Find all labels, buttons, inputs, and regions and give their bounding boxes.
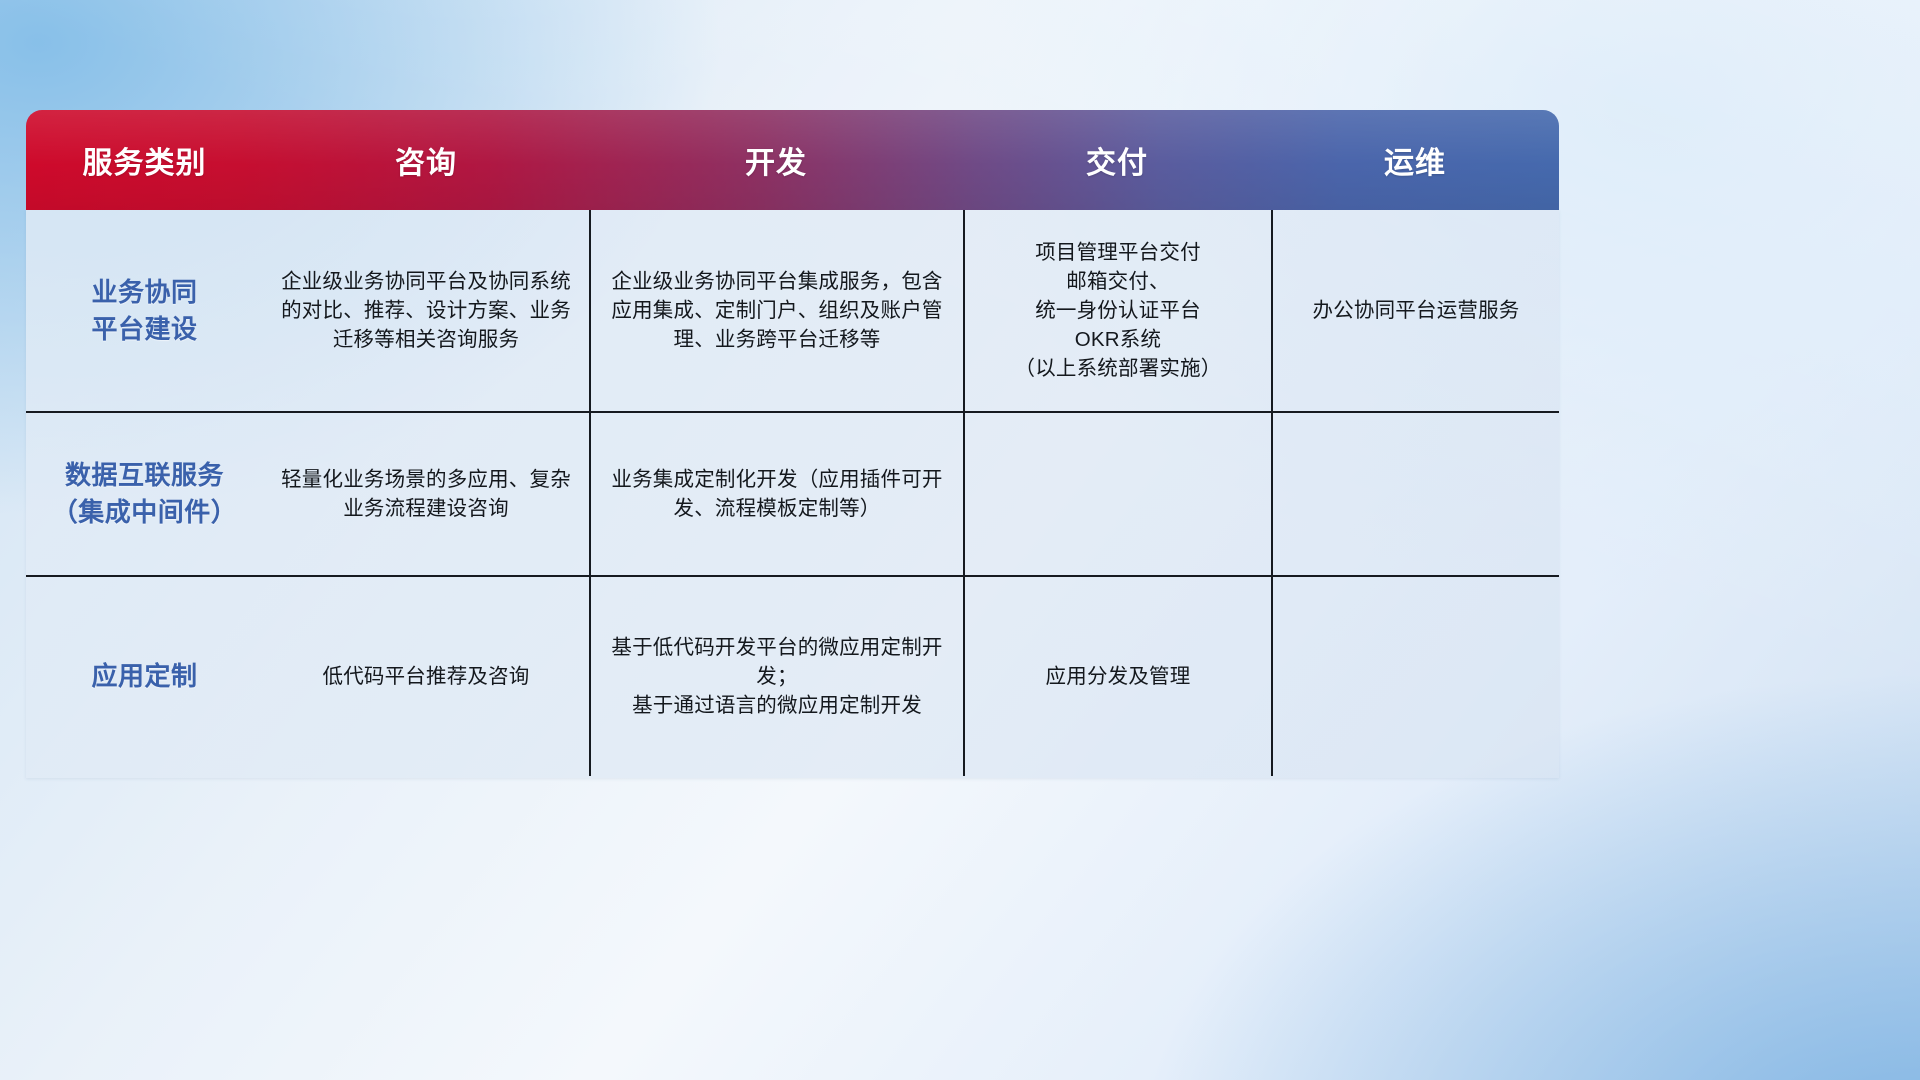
cell-delivery: 项目管理平台交付 邮箱交付、 统一身份认证平台 OKR系统 （以上系统部署实施） [963,210,1271,411]
cell-operations [1271,577,1559,776]
cell-delivery: 应用分发及管理 [963,577,1271,776]
header-cell-consulting: 咨询 [263,138,589,182]
table-header-row: 服务类别 咨询 开发 交付 运维 [26,110,1559,210]
table-body: 业务协同 平台建设 企业级业务协同平台及协同系统的对比、推荐、设计方案、业务迁移… [26,210,1559,778]
row-label-data-integration: 数据互联服务 （集成中间件） [26,413,263,575]
header-cell-delivery: 交付 [963,138,1271,182]
cell-development: 基于低代码开发平台的微应用定制开发； 基于通过语言的微应用定制开发 [589,577,963,776]
table-row: 应用定制 低代码平台推荐及咨询 基于低代码开发平台的微应用定制开发； 基于通过语… [26,577,1559,776]
cell-operations: 办公协同平台运营服务 [1271,210,1559,411]
table-row: 业务协同 平台建设 企业级业务协同平台及协同系统的对比、推荐、设计方案、业务迁移… [26,210,1559,411]
header-cell-operations: 运维 [1271,138,1559,182]
row-label-business-collaboration: 业务协同 平台建设 [26,210,263,411]
cell-development: 企业级业务协同平台集成服务，包含应用集成、定制门户、组织及账户管理、业务跨平台迁… [589,210,963,411]
cell-delivery [963,413,1271,575]
row-label-app-customization: 应用定制 [26,577,263,776]
header-cell-development: 开发 [589,138,963,182]
cell-development: 业务集成定制化开发（应用插件可开发、流程模板定制等） [589,413,963,575]
cell-consulting: 企业级业务协同平台及协同系统的对比、推荐、设计方案、业务迁移等相关咨询服务 [263,210,589,411]
cell-consulting: 轻量化业务场景的多应用、复杂业务流程建设咨询 [263,413,589,575]
header-cell-service-category: 服务类别 [26,138,263,182]
service-matrix-table: 服务类别 咨询 开发 交付 运维 业务协同 平台建设 企业级业务协同平台及协同系… [26,110,1559,778]
cell-operations [1271,413,1559,575]
slide-canvas: 服务类别 咨询 开发 交付 运维 业务协同 平台建设 企业级业务协同平台及协同系… [0,0,1920,1080]
table-row: 数据互联服务 （集成中间件） 轻量化业务场景的多应用、复杂业务流程建设咨询 业务… [26,411,1559,577]
cell-consulting: 低代码平台推荐及咨询 [263,577,589,776]
